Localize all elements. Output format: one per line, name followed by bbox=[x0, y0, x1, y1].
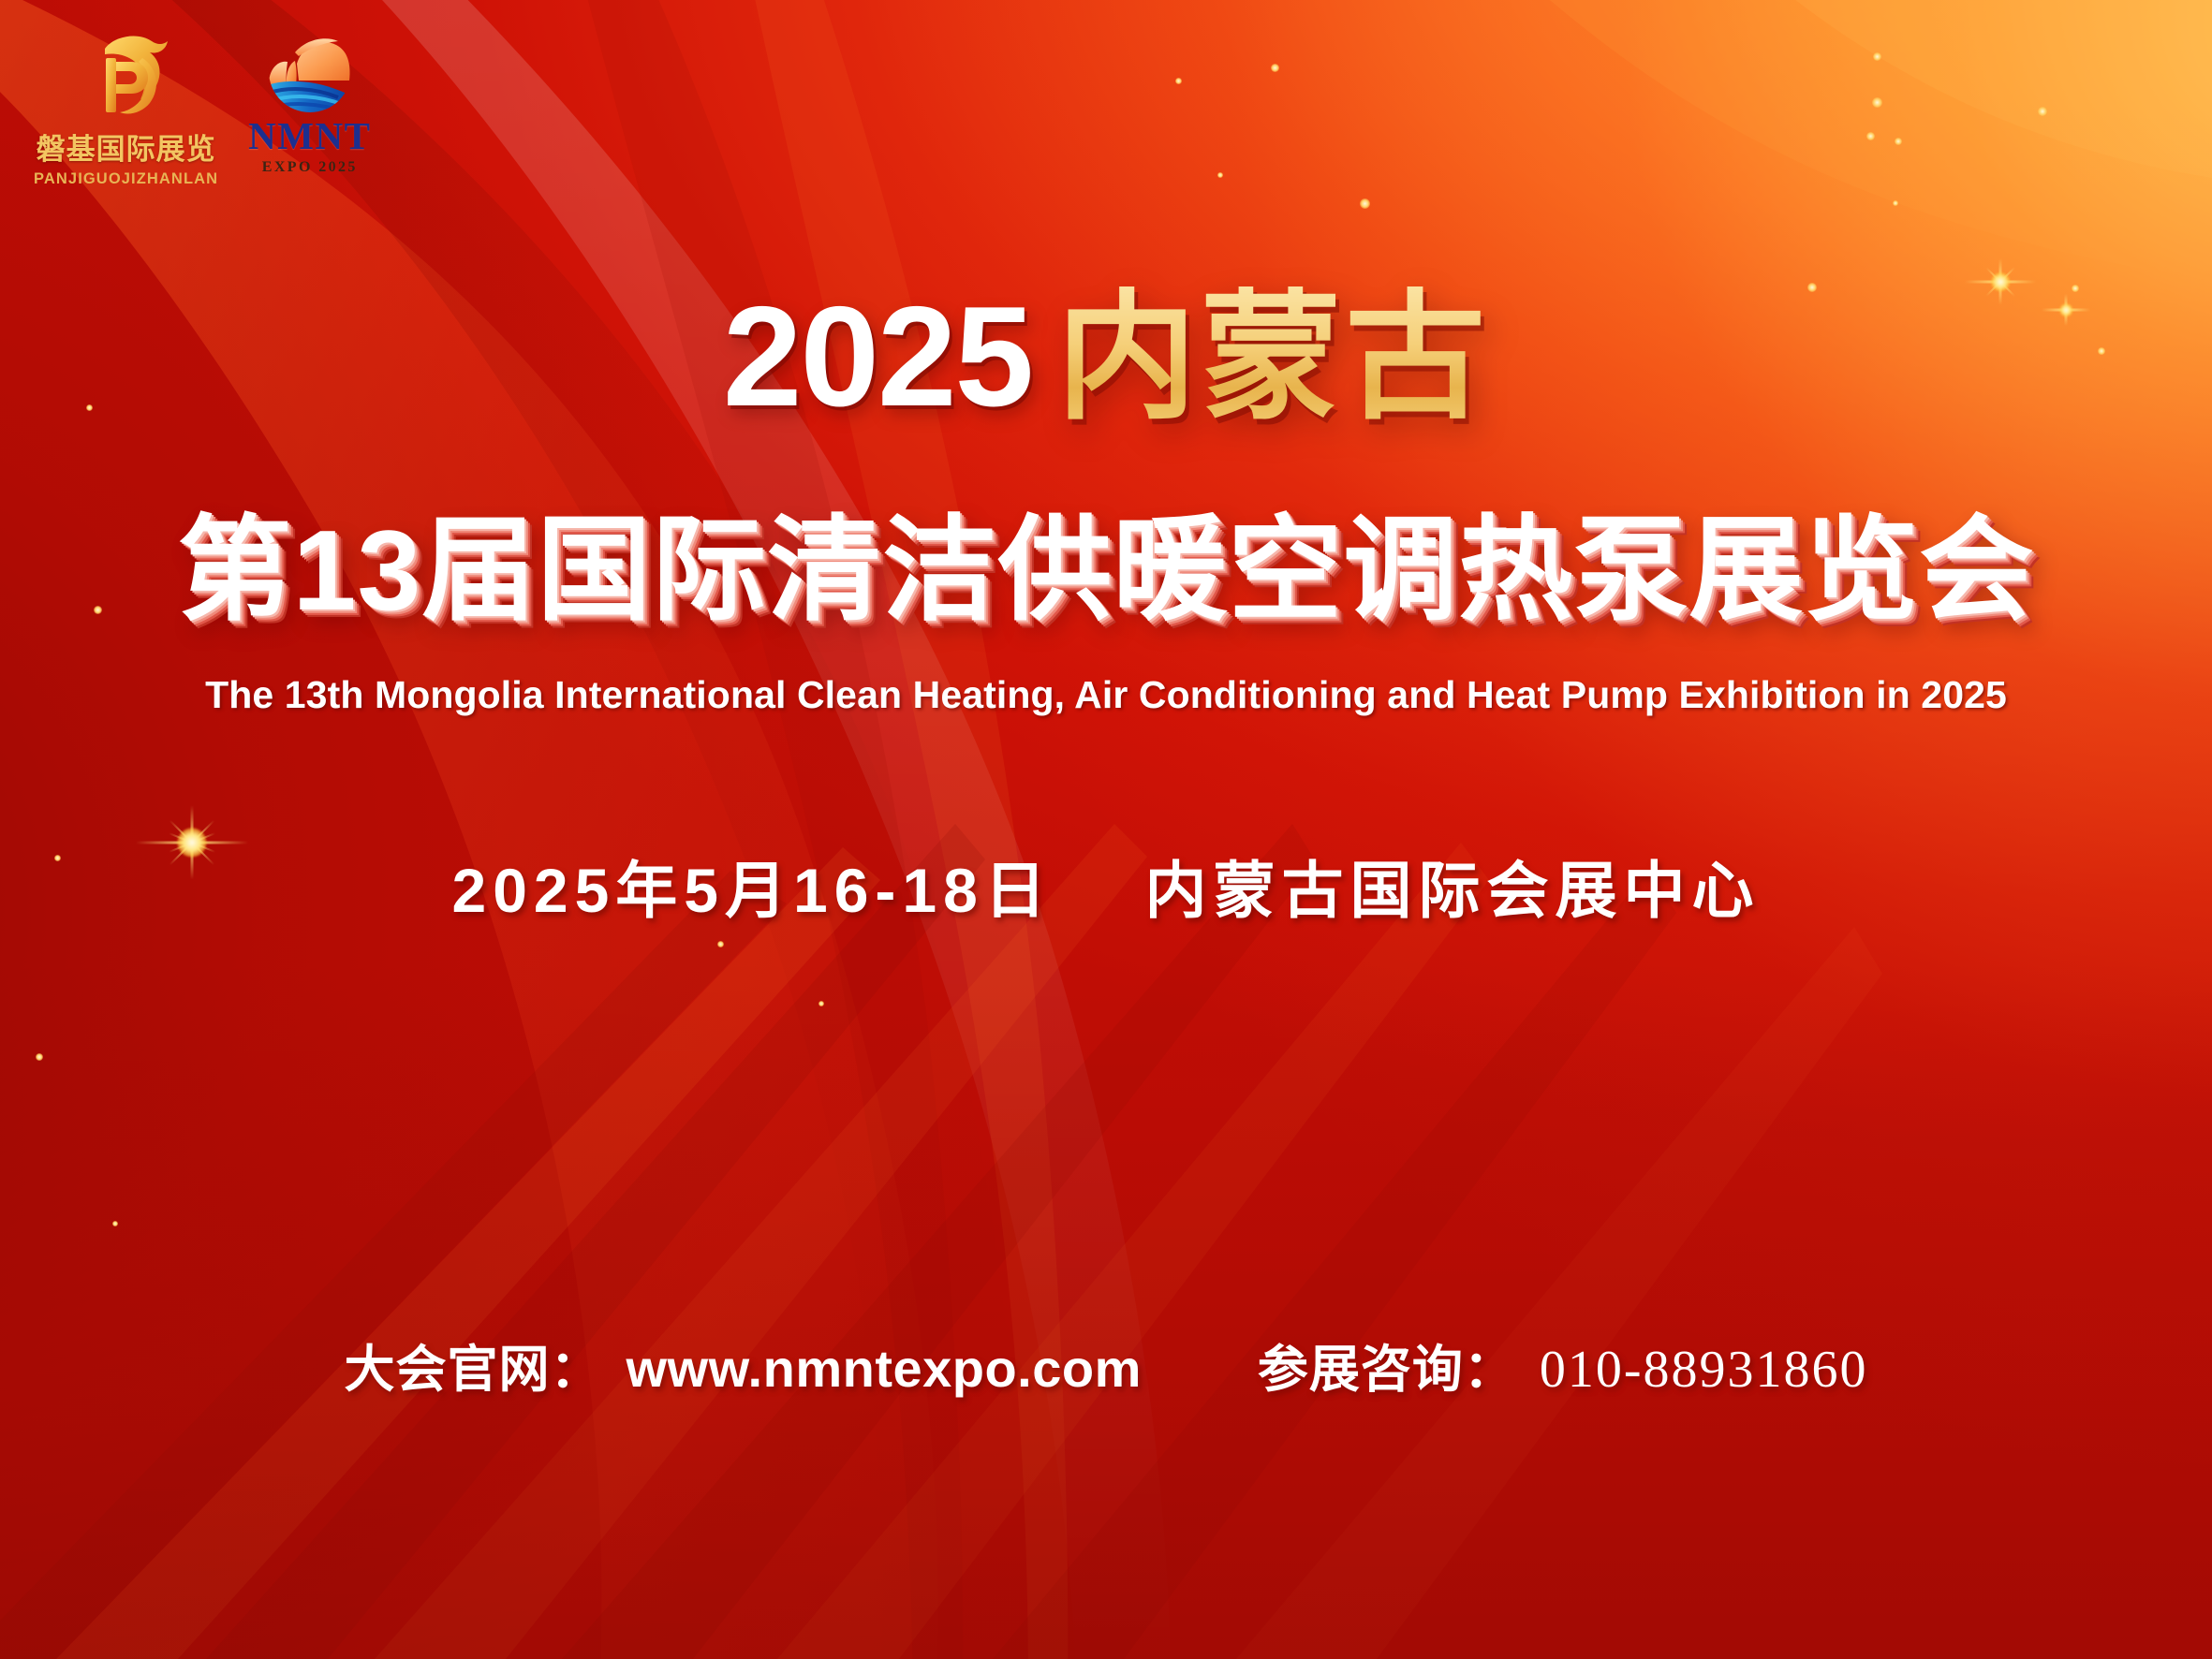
poster-content: 2025 内蒙古 第13届国际清洁供暖空调热泵展览会 The 13th Mong… bbox=[0, 0, 2212, 1659]
panji-logo-name-cn: 磐基国际展览 bbox=[37, 125, 216, 168]
slogan-row: 相约内蒙 携手共进 合作共赢 bbox=[0, 1024, 2212, 1162]
nmnt-logo-name: NMNT bbox=[248, 117, 371, 155]
main-title: 第13届国际清洁供暖空调热泵展览会 bbox=[0, 513, 2212, 627]
mountain-water-circle-icon bbox=[261, 26, 359, 116]
panji-logo-pinyin: PANJIGUOJIZHANLAN bbox=[34, 170, 218, 188]
contact-row: 大会官网： www.nmntexpo.com 参展咨询： 010-8893186… bbox=[0, 1328, 2212, 1402]
logo-group: 磐基国际展览 PANJIGUOJIZHANLAN bbox=[34, 26, 371, 188]
phone-label: 参展咨询： bbox=[1258, 1328, 1515, 1402]
website-label: 大会官网： bbox=[344, 1328, 601, 1402]
slogan-part-3: 合作共赢 bbox=[1432, 1024, 1859, 1162]
event-dates: 2025年5月16-18日 bbox=[451, 856, 1052, 925]
headline-year: 2025 bbox=[723, 286, 1032, 428]
headline-row: 2025 内蒙古 bbox=[0, 286, 2212, 428]
slogan-part-1: 相约内蒙 bbox=[353, 1024, 780, 1162]
headline-region: 内蒙古 bbox=[1056, 286, 1489, 427]
phone-value[interactable]: 010-88931860 bbox=[1540, 1340, 1868, 1400]
nmnt-logo[interactable]: NMNT EXPO 2025 bbox=[248, 26, 371, 176]
slogan-part-2: 携手共进 bbox=[892, 1024, 1320, 1162]
dragon-p-monogram-icon bbox=[77, 26, 176, 124]
nmnt-logo-subtitle: EXPO 2025 bbox=[262, 159, 358, 176]
english-title: The 13th Mongolia International Clean He… bbox=[0, 673, 2212, 717]
poster-root: 磐基国际展览 PANJIGUOJIZHANLAN bbox=[0, 0, 2212, 1659]
event-info-line: 2025年5月16-18日 内蒙古国际会展中心 bbox=[0, 841, 2212, 931]
event-venue: 内蒙古国际会展中心 bbox=[1145, 856, 1761, 925]
website-value[interactable]: www.nmntexpo.com bbox=[626, 1338, 1141, 1399]
panji-logo[interactable]: 磐基国际展览 PANJIGUOJIZHANLAN bbox=[34, 26, 218, 188]
